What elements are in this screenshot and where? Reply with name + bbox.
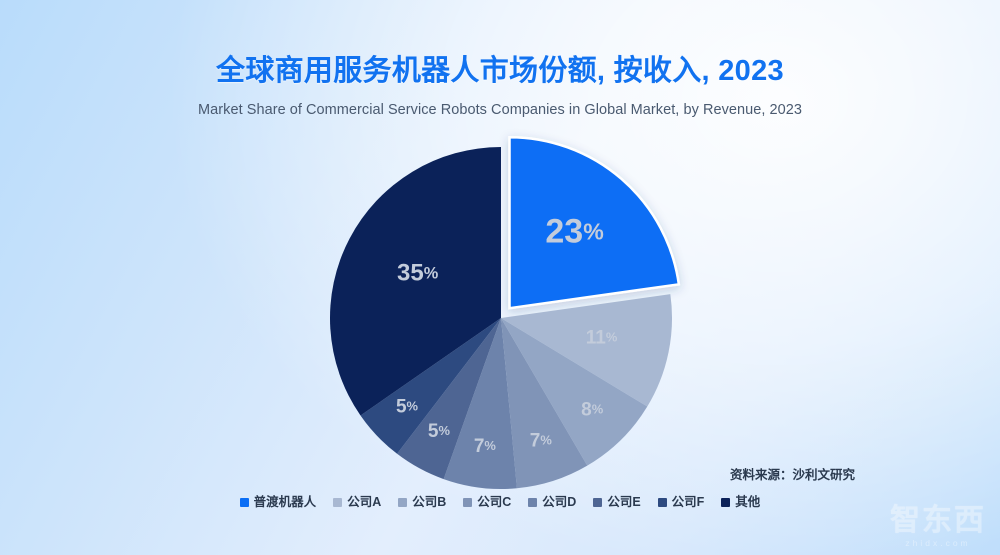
legend-item[interactable]: 公司B bbox=[398, 496, 446, 509]
page-title: 全球商用服务机器人市场份额, 按收入, 2023 bbox=[0, 0, 1000, 89]
legend-swatch-icon bbox=[463, 498, 472, 507]
legend-swatch-icon bbox=[593, 498, 602, 507]
legend-item[interactable]: 公司D bbox=[528, 496, 576, 509]
pie-chart-svg: 23%11%8%7%7%5%5%35% bbox=[300, 125, 700, 495]
legend-item-label: 公司E bbox=[607, 496, 640, 509]
watermark-domain: zhidx.com bbox=[890, 539, 986, 548]
legend-item-label: 公司C bbox=[477, 496, 511, 509]
legend-item[interactable]: 公司C bbox=[463, 496, 511, 509]
legend-item[interactable]: 普渡机器人 bbox=[240, 496, 317, 509]
legend-item-label: 公司F bbox=[672, 496, 705, 509]
legend-swatch-icon bbox=[658, 498, 667, 507]
pie-slice-label: 35% bbox=[397, 260, 439, 287]
chart-subtitle: Market Share of Commercial Service Robot… bbox=[0, 89, 1000, 118]
legend-swatch-icon bbox=[240, 498, 249, 507]
pie-chart: 23%11%8%7%7%5%5%35% bbox=[300, 125, 700, 495]
chart-header: 全球商用服务机器人市场份额, 按收入, 2023 Market Share of… bbox=[0, 0, 1000, 118]
legend-item-label: 公司A bbox=[347, 496, 381, 509]
chart-canvas: 全球商用服务机器人市场份额, 按收入, 2023 Market Share of… bbox=[0, 0, 1000, 555]
source-note: 资料来源：沙利文研究 bbox=[730, 464, 855, 483]
legend-swatch-icon bbox=[398, 498, 407, 507]
watermark-logo: 智东西 bbox=[890, 506, 986, 536]
pie-slices-group bbox=[330, 137, 679, 489]
legend-item-label: 其他 bbox=[735, 496, 760, 509]
legend-item[interactable]: 其他 bbox=[721, 496, 760, 509]
legend-item[interactable]: 公司A bbox=[333, 496, 381, 509]
chart-legend: 普渡机器人公司A公司B公司C公司D公司E公司F其他 bbox=[0, 496, 1000, 509]
legend-swatch-icon bbox=[528, 498, 537, 507]
legend-swatch-icon bbox=[721, 498, 730, 507]
legend-item[interactable]: 公司E bbox=[593, 496, 640, 509]
legend-item-label: 普渡机器人 bbox=[254, 496, 317, 509]
legend-item[interactable]: 公司F bbox=[658, 496, 705, 509]
legend-item-label: 公司B bbox=[412, 496, 446, 509]
legend-item-label: 公司D bbox=[542, 496, 576, 509]
watermark: 智东西 zhidx.com bbox=[890, 506, 986, 548]
legend-swatch-icon bbox=[333, 498, 342, 507]
